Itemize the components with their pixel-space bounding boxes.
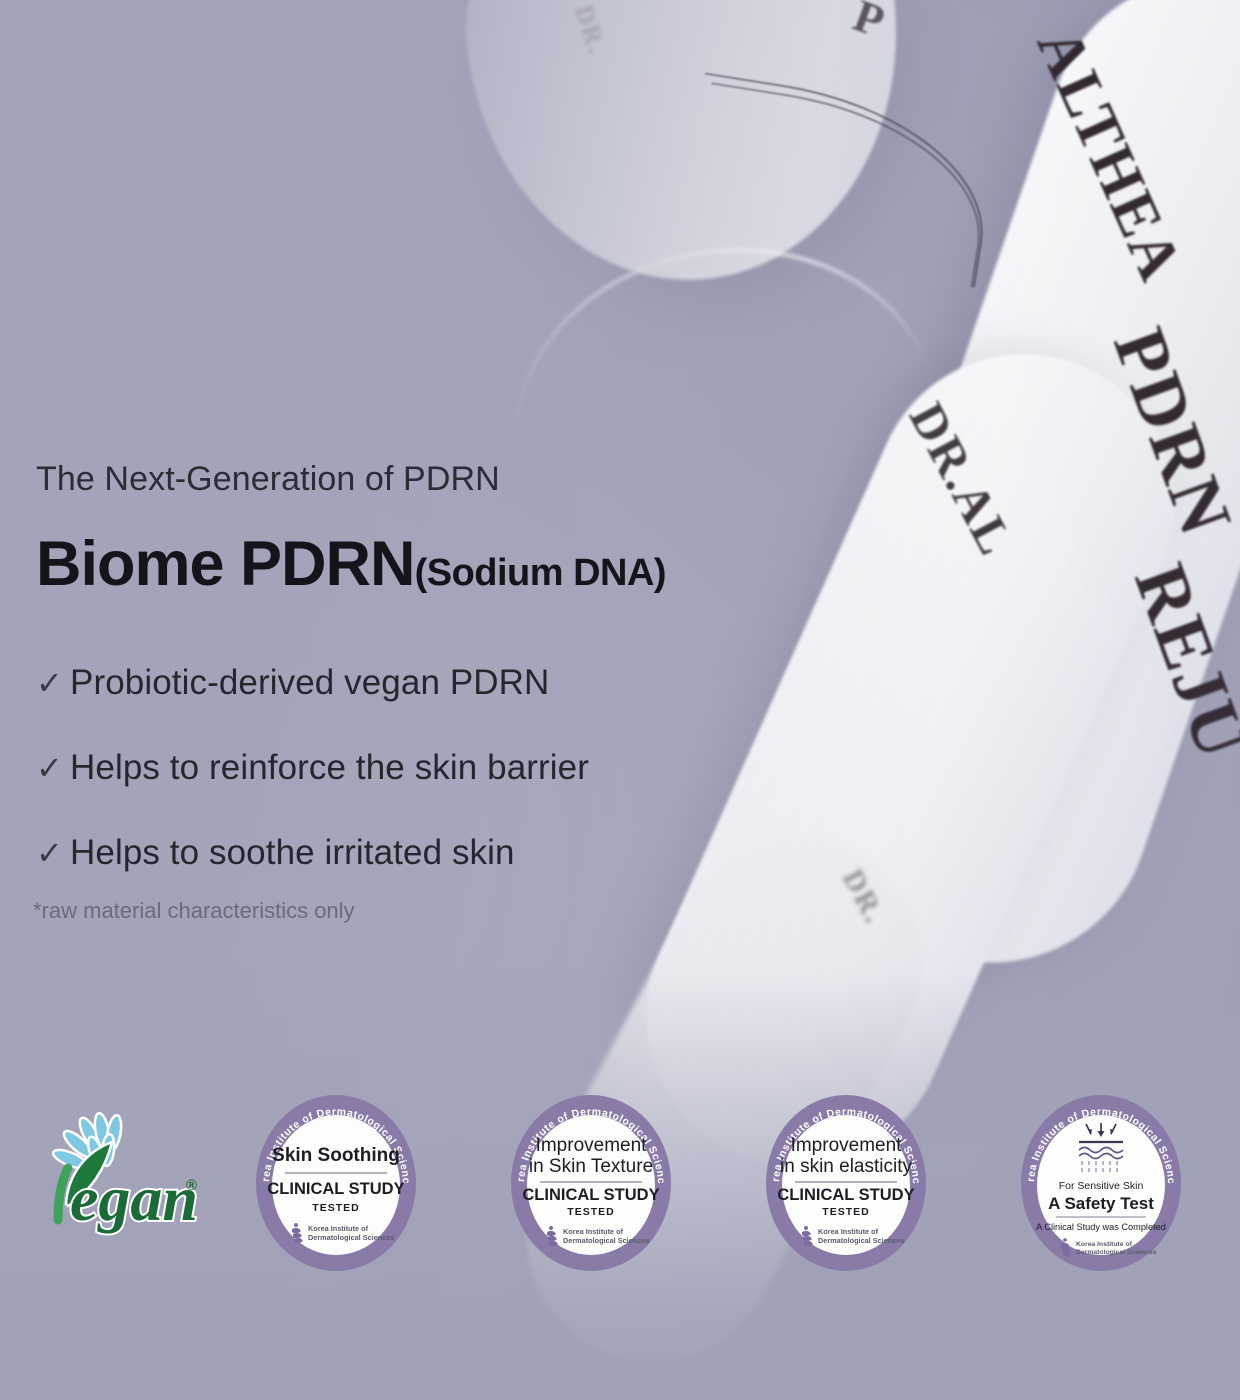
check-icon: ✓	[36, 752, 70, 784]
badge-footer-line-1: Korea Institute of	[1076, 1241, 1133, 1248]
badge-footer-line-2: Dermatological Sciences	[1076, 1249, 1157, 1256]
check-icon: ✓	[36, 837, 70, 869]
badge-title-line-1: For Sensitive Skin	[1059, 1180, 1144, 1192]
list-item: ✓ Probiotic-derived vegan PDRN	[36, 655, 589, 711]
badge-study-status: A Clinical Study was Completed	[1036, 1222, 1166, 1232]
eyebrow-text: The Next-Generation of PDRN	[36, 460, 500, 499]
badge-study-label: CLINICAL STUDY	[267, 1180, 404, 1198]
disclaimer-text: *raw material characteristics only	[33, 898, 355, 924]
badge-title-line-1: Improvement	[791, 1135, 903, 1156]
badge-skin-soothing: Korea Institute of Dermatological Scienc…	[245, 1088, 427, 1274]
badge-safety-test: Korea Institute of Dermatological Scienc…	[1010, 1088, 1192, 1274]
badge-footer-line-1: Korea Institute of	[818, 1227, 879, 1236]
list-item-label: Helps to soothe irritated skin	[70, 833, 515, 873]
page-title: Biome PDRN (Sodium DNA)	[36, 528, 666, 600]
feature-list: ✓ Probiotic-derived vegan PDRN ✓ Helps t…	[36, 655, 589, 910]
badge-study-status: TESTED	[312, 1202, 359, 1214]
product-marketing-poster: ALTHEA PDRN DR.AL REJU DR. DR. P The Nex…	[0, 0, 1240, 1400]
check-icon: ✓	[36, 667, 70, 699]
list-item-label: Probiotic-derived vegan PDRN	[70, 663, 549, 703]
badge-study-label: CLINICAL STUDY	[522, 1186, 659, 1204]
badge-skin-texture: Korea Institute of Dermatological Scienc…	[500, 1088, 682, 1274]
badge-study-label: CLINICAL STUDY	[777, 1186, 914, 1204]
vegan-wordmark: egan	[70, 1163, 198, 1234]
badge-title-line-1: Improvement	[536, 1135, 648, 1156]
badge-footer-line-2: Dermatological Sciences	[308, 1233, 394, 1242]
badge-footer-line-1: Korea Institute of	[563, 1227, 624, 1236]
content-layer: The Next-Generation of PDRN Biome PDRN (…	[0, 0, 1240, 1400]
badge-skin-elasticity: Korea Institute of Dermatological Scienc…	[755, 1088, 937, 1274]
badge-title-line-2: in Skin Texture	[529, 1156, 653, 1177]
title-subscript: (Sodium DNA)	[415, 552, 667, 595]
vegan-logo: egan ®	[28, 1112, 208, 1252]
list-item: ✓ Helps to reinforce the skin barrier	[36, 740, 589, 796]
title-main: Biome PDRN	[36, 528, 415, 600]
list-item-label: Helps to reinforce the skin barrier	[70, 748, 589, 788]
badge-title-line-1: Skin Soothing	[272, 1145, 400, 1166]
badge-title-line-2: in skin elasticity	[780, 1156, 912, 1177]
badge-study-status: TESTED	[567, 1206, 614, 1218]
badge-footer-line-2: Dermatological Sciences	[818, 1236, 904, 1245]
badge-study-status: TESTED	[822, 1206, 869, 1218]
badge-footer-line-2: Dermatological Sciences	[563, 1236, 649, 1245]
badge-study-label: A Safety Test	[1048, 1194, 1154, 1213]
registered-mark: ®	[186, 1177, 197, 1194]
list-item: ✓ Helps to soothe irritated skin	[36, 825, 589, 881]
badge-footer-line-1: Korea Institute of	[308, 1224, 369, 1233]
